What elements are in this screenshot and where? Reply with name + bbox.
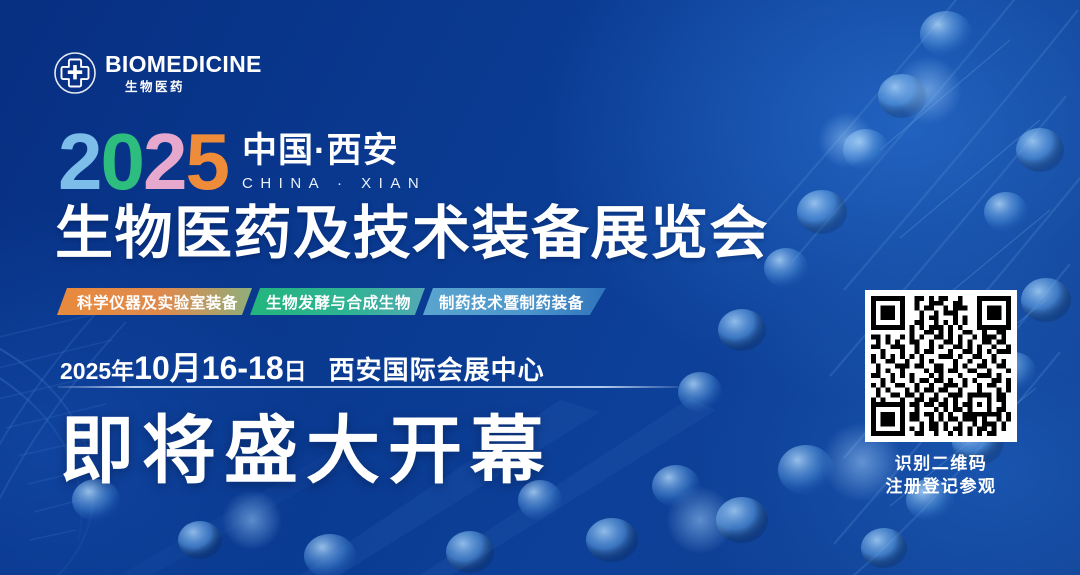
event-date-month: 10月 [134, 343, 202, 389]
topic-tag-instruments: 科学仪器及实验室装备 [57, 288, 252, 315]
logo-name-en: BIOMEDICINE [105, 53, 262, 76]
qr-code-icon[interactable] [871, 296, 1011, 436]
qr-registration-block[interactable]: 识别二维码 注册登记参观 [862, 290, 1020, 499]
event-slogan: 即将盛大开幕 [60, 412, 552, 490]
logo-text-block: BIOMEDICINE 生物医药 [105, 53, 262, 94]
logo-name-cn: 生物医药 [105, 81, 262, 94]
year-digit-3: 2 [143, 128, 186, 195]
city-name-en: CHINA · XIAN [242, 175, 426, 192]
event-date-venue: 2025年 10月 16-18 日 西安国际会展中心 [60, 343, 545, 389]
event-date-day-unit: 日 [284, 352, 307, 386]
exhibition-title: 生物医药及技术装备展览会 [55, 203, 769, 266]
year-digit-4: 5 [186, 128, 229, 195]
topic-tag-pharma: 制药技术暨制药装备 [423, 288, 606, 315]
section-divider [58, 386, 678, 388]
year-city-row: 2 0 2 5 中国·西安 CHINA · XIAN [58, 128, 426, 195]
event-date-days: 16-18 [202, 350, 284, 387]
event-date-year: 2025年 [60, 352, 134, 386]
year-digit-1: 2 [58, 128, 101, 195]
event-venue: 西安国际会展中心 [329, 350, 545, 387]
promo-banner: BIOMEDICINE 生物医药 2 0 2 5 中国·西安 CHINA · X… [0, 0, 1080, 575]
qr-code-card[interactable] [865, 290, 1017, 442]
topic-tag-ribbon: 科学仪器及实验室装备 生物发酵与合成生物 制药技术暨制药装备 [57, 288, 606, 315]
qr-caption-line-1: 识别二维码 [886, 453, 997, 476]
brand-logo: BIOMEDICINE 生物医药 [52, 50, 262, 96]
city-name-cn: 中国·西安 [242, 133, 399, 168]
topic-tag-fermentation: 生物发酵与合成生物 [250, 288, 425, 315]
medical-cross-circle-icon [52, 50, 98, 96]
city-block: 中国·西安 CHINA · XIAN [242, 133, 426, 195]
qr-caption: 识别二维码 注册登记参观 [886, 453, 997, 499]
year-digit-2: 0 [101, 128, 144, 195]
qr-caption-line-2: 注册登记参观 [886, 476, 997, 499]
